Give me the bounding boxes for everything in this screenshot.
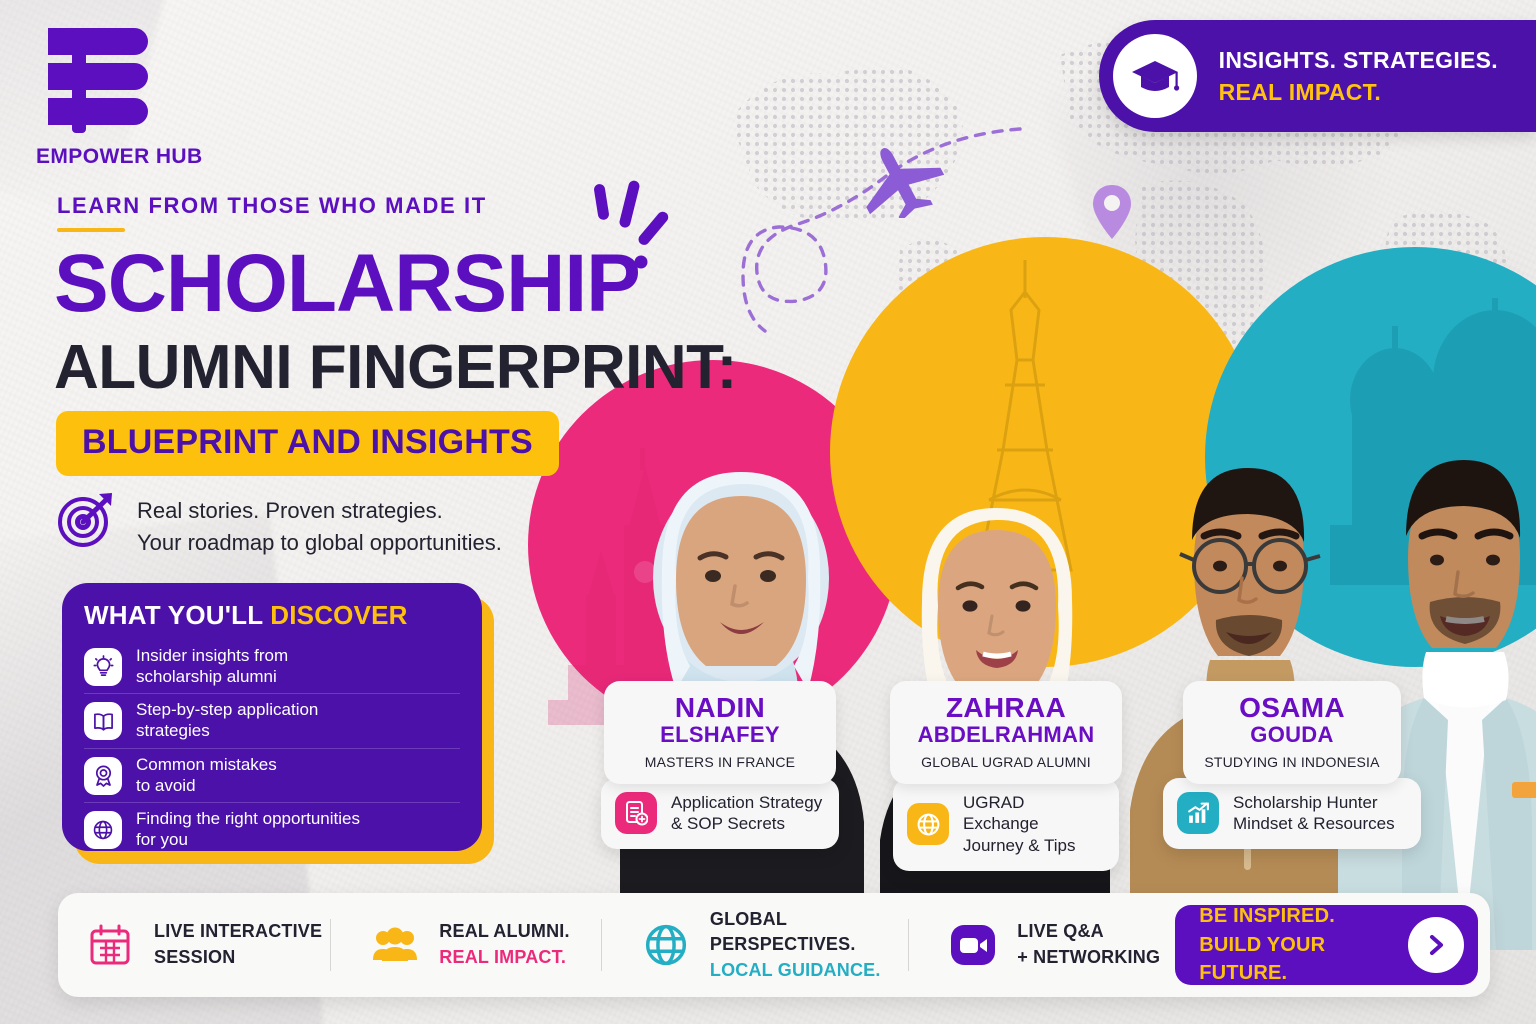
badge-line2: REAL IMPACT. (1219, 79, 1498, 106)
globe-icon (640, 919, 692, 971)
headline-chip-label: BLUEPRINT AND INSIGHTS (82, 423, 533, 461)
eyebrow-text: LEARN FROM THOSE WHO MADE IT (57, 193, 487, 219)
speaker-topic-line2-1: & SOP Secrets (671, 813, 822, 835)
speaker-topic-line2-3: Mindset & Resources (1233, 813, 1395, 835)
lightbulb-icon (84, 648, 122, 686)
discover-item-text-2: Step-by-step application strategies (136, 700, 318, 741)
badge-line1: INSIGHTS. STRATEGIES. (1219, 47, 1498, 74)
speaker-role-3: STUDYING IN INDONESIA (1201, 754, 1383, 770)
speaker-card-2[interactable]: ZAHRAA ABDELRAHMAN GLOBAL UGRAD ALUMNI U… (890, 681, 1122, 871)
calendar-icon (84, 919, 136, 971)
airplane-icon (855, 140, 945, 218)
target-arrow-icon (55, 488, 117, 550)
map-pin-icon (1090, 183, 1134, 241)
speaker-name-block-3: OSAMA GOUDA STUDYING IN INDONESIA (1183, 681, 1401, 784)
discover-panel: WHAT YOU'LL DISCOVER Insider insights fr… (62, 583, 482, 851)
logo-bar-3 (48, 98, 148, 125)
discover-item-line1-1: Insider insights from (136, 646, 288, 667)
bottom-feature-bar: LIVE INTERACTIVE SESSION REAL ALUMNI. RE… (58, 893, 1490, 997)
tagline-line1: Real stories. Proven strategies. (137, 495, 502, 527)
speaker-topic-line1-2: UGRAD Exchange (963, 792, 1103, 836)
feature-live-session: LIVE INTERACTIVE SESSION (84, 919, 330, 971)
feature-real-alumni: REAL ALUMNI. REAL IMPACT. (331, 919, 601, 971)
brand-name: EMPOWER HUB (36, 145, 236, 169)
people-icon (369, 919, 421, 971)
feature-line2-3: LOCAL GUIDANCE. (710, 958, 908, 984)
logo-stem (72, 28, 86, 133)
feature-text-3: GLOBAL PERSPECTIVES. LOCAL GUIDANCE. (710, 907, 908, 984)
discover-title-plain: WHAT YOU'LL (84, 600, 270, 630)
discover-item-2: Step-by-step application strategies (84, 694, 460, 748)
discover-list: Insider insights from scholarship alumni… (84, 640, 460, 857)
speaker-last-name-3: GOUDA (1201, 722, 1383, 747)
feature-line1-4: LIVE Q&A (1017, 919, 1160, 945)
speaker-name-block-2: ZAHRAA ABDELRAHMAN GLOBAL UGRAD ALUMNI (890, 681, 1122, 784)
brand-logo[interactable]: EMPOWER HUB (36, 28, 236, 169)
tagline-line2: Your roadmap to global opportunities. (137, 527, 502, 559)
discover-item-text-1: Insider insights from scholarship alumni (136, 646, 288, 687)
open-book-icon (84, 702, 122, 740)
person-photo-osama (1320, 390, 1536, 950)
speaker-topic-line2-2: Journey & Tips (963, 835, 1103, 857)
insights-badge[interactable]: INSIGHTS. STRATEGIES. REAL IMPACT. (1099, 20, 1536, 132)
speaker-card-3[interactable]: OSAMA GOUDA STUDYING IN INDONESIA Schola… (1183, 681, 1401, 849)
discover-title-accent: DISCOVER (270, 600, 407, 630)
feature-line2-2: REAL IMPACT. (439, 945, 569, 971)
video-cam-icon (947, 919, 999, 971)
discover-title: WHAT YOU'LL DISCOVER (84, 600, 460, 631)
speaker-first-name-2: ZAHRAA (908, 693, 1104, 722)
feature-text-1: LIVE INTERACTIVE SESSION (154, 919, 322, 970)
discover-item-text-4: Finding the right opportunities for you (136, 809, 360, 850)
cta-line1: BE INSPIRED. (1199, 902, 1408, 930)
growth-chart-icon (1177, 792, 1219, 834)
document-plus-icon (615, 792, 657, 834)
speaker-last-name-1: ELSHAFEY (622, 722, 818, 747)
speaker-role-1: MASTERS IN FRANCE (622, 754, 818, 770)
discover-item-text-3: Common mistakes to avoid (136, 755, 277, 796)
headline-line1: SCHOLARSHIP (54, 243, 640, 325)
feature-text-2: REAL ALUMNI. REAL IMPACT. (439, 919, 569, 970)
cta-line2: BUILD YOUR FUTURE. (1199, 931, 1408, 988)
cta-text: BE INSPIRED. BUILD YOUR FUTURE. (1199, 902, 1408, 987)
award-ribbon-icon (84, 757, 122, 795)
speaker-topic-text-1: Application Strategy & SOP Secrets (671, 792, 822, 836)
discover-item-line2-3: to avoid (136, 776, 277, 797)
speaker-topic-3[interactable]: Scholarship Hunter Mindset & Resources (1163, 778, 1421, 850)
speaker-first-name-3: OSAMA (1201, 693, 1383, 722)
chevron-right-icon[interactable] (1408, 917, 1464, 973)
speaker-topic-2[interactable]: UGRAD Exchange Journey & Tips (893, 778, 1119, 871)
discover-item-line2-2: strategies (136, 721, 318, 742)
graduation-cap-icon (1113, 34, 1197, 118)
feature-live-qa: LIVE Q&A + NETWORKING (909, 919, 1175, 971)
speaker-topic-1[interactable]: Application Strategy & SOP Secrets (601, 778, 839, 850)
speaker-last-name-2: ABDELRAHMAN (908, 722, 1104, 747)
speaker-topic-line1-1: Application Strategy (671, 792, 822, 814)
discover-item-4: Finding the right opportunities for you (84, 803, 460, 856)
tagline: Real stories. Proven strategies. Your ro… (137, 495, 502, 559)
feature-line2-1: SESSION (154, 945, 322, 971)
discover-item-3: Common mistakes to avoid (84, 749, 460, 803)
speaker-name-block-1: NADIN ELSHAFEY MASTERS IN FRANCE (604, 681, 836, 784)
speaker-role-2: GLOBAL UGRAD ALUMNI (908, 754, 1104, 770)
discover-item-line2-4: for you (136, 830, 360, 851)
discover-item-1: Insider insights from scholarship alumni (84, 640, 460, 694)
speaker-topic-text-3: Scholarship Hunter Mindset & Resources (1233, 792, 1395, 836)
globe-icon (907, 803, 949, 845)
logo-bar-1 (48, 28, 148, 55)
feature-text-4: LIVE Q&A + NETWORKING (1017, 919, 1160, 970)
discover-item-line1-2: Step-by-step application (136, 700, 318, 721)
feature-line1-2: REAL ALUMNI. (439, 919, 569, 945)
logo-bar-2 (48, 63, 148, 90)
cta-button[interactable]: BE INSPIRED. BUILD YOUR FUTURE. (1175, 905, 1478, 985)
headline-chip: BLUEPRINT AND INSIGHTS (56, 411, 559, 476)
feature-global-perspectives: GLOBAL PERSPECTIVES. LOCAL GUIDANCE. (602, 907, 908, 984)
globe-icon (84, 811, 122, 849)
poster-canvas: EMPOWER HUB INSIGHTS. STRATEGIES. REAL I… (0, 0, 1536, 1024)
speaker-card-1[interactable]: NADIN ELSHAFEY MASTERS IN FRANCE Applica… (604, 681, 836, 849)
discover-item-line2-1: scholarship alumni (136, 667, 288, 688)
speaker-first-name-1: NADIN (622, 693, 818, 722)
feature-line1-1: LIVE INTERACTIVE (154, 919, 322, 945)
speaker-topic-line1-3: Scholarship Hunter (1233, 792, 1395, 814)
discover-item-line1-4: Finding the right opportunities (136, 809, 360, 830)
feature-line2-4: + NETWORKING (1017, 945, 1160, 971)
speaker-topic-text-2: UGRAD Exchange Journey & Tips (963, 792, 1103, 857)
eyebrow-rule (57, 228, 125, 232)
discover-item-line1-3: Common mistakes (136, 755, 277, 776)
feature-line1-3: GLOBAL PERSPECTIVES. (710, 907, 908, 958)
